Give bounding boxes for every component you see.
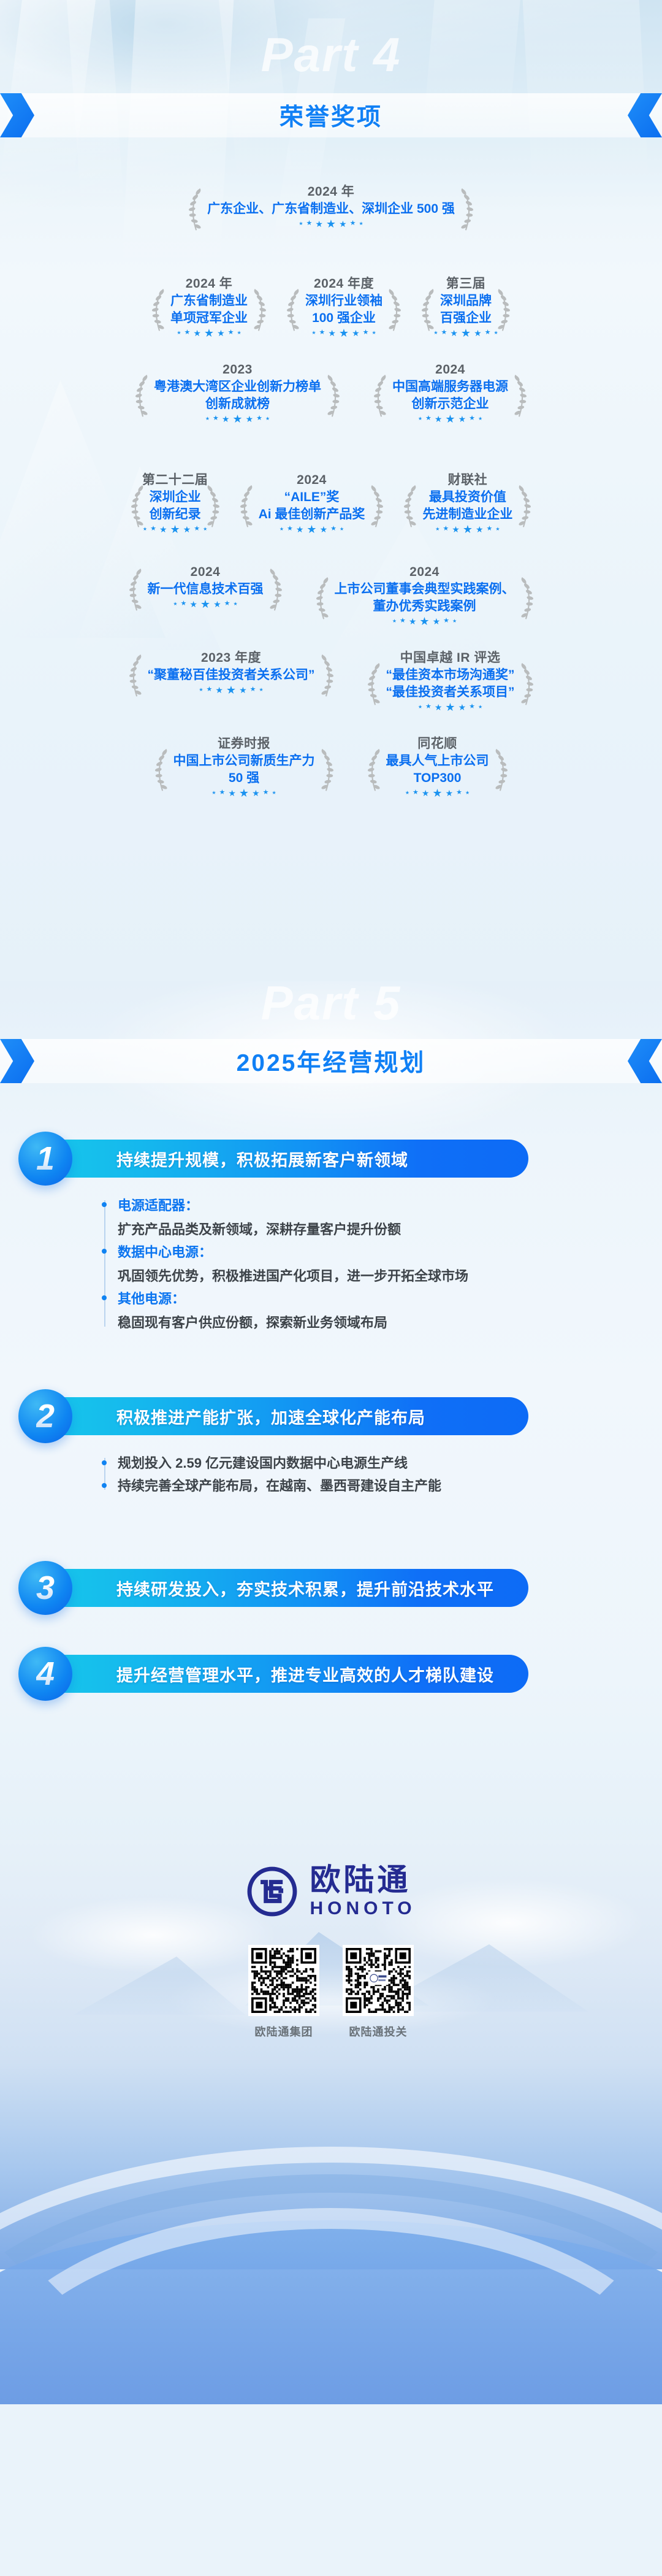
plan-bullet-text: 扩充产品品类及新领域，深耕存量客户提升份额 xyxy=(118,1219,662,1240)
star-icon: ★ xyxy=(435,527,439,532)
star-icon: ★ xyxy=(418,705,422,710)
part4-watermark: Part 4 xyxy=(0,27,662,83)
laurel-wreath-icon xyxy=(385,287,403,332)
star-icon: ★ xyxy=(228,329,234,336)
plan-heading-pill[interactable]: 提升经营管理水平，推进专业高效的人才梯队建设 xyxy=(44,1655,528,1693)
star-icon: ★ xyxy=(265,416,270,421)
award-name-line: 创新纪录 xyxy=(150,506,201,523)
plan-bullet-text: 巩固领先优势，积极推进国产化项目，进一步开拓全球市场 xyxy=(118,1266,662,1286)
star-divider: ★★★★★★★ xyxy=(314,617,536,626)
plan-heading-row: 提升经营管理水平，推进专业高效的人才梯队建设 4 xyxy=(0,1647,662,1701)
star-icon: ★ xyxy=(250,686,256,693)
star-icon: ★ xyxy=(200,599,210,610)
award-name-line: “最佳投资者关系项目” xyxy=(386,684,515,701)
award-item[interactable]: 2024 年 广东省制造业单项冠军企业 ★★★★★★★ xyxy=(147,276,271,337)
star-icon: ★ xyxy=(363,329,369,336)
star-icon: ★ xyxy=(405,791,409,795)
award-body: 广东省制造业单项冠军企业 xyxy=(150,293,268,326)
star-icon: ★ xyxy=(359,221,363,226)
star-icon: ★ xyxy=(256,415,262,422)
star-icon: ★ xyxy=(189,600,197,608)
plan-bullet-text: 规划投入 2.59 亿元建设国内数据中心电源生产线 xyxy=(118,1453,662,1473)
award-body: 最具投资价值先进制造业企业 xyxy=(401,489,533,523)
star-icon: ★ xyxy=(183,525,191,534)
star-icon: ★ xyxy=(339,328,349,339)
laurel-wreath-icon xyxy=(238,483,256,529)
award-item[interactable]: 证券时报 中国上市公司新质生产力50 强 ★★★★★★★ xyxy=(150,736,338,797)
star-icon: ★ xyxy=(469,415,475,422)
plan-item[interactable]: 提升经营管理水平，推进专业高效的人才梯队建设 4 xyxy=(0,1647,662,1701)
footer: 欧陆通 HONOTO 欧陆通集团 欧陆通投关 xyxy=(0,1865,662,2039)
award-item[interactable]: 2024 上市公司董事会典型实践案例、董办优秀实践案例 ★★★★★★★ xyxy=(311,564,538,626)
star-icon: ★ xyxy=(215,686,223,694)
star-icon: ★ xyxy=(226,684,236,696)
part4-title-banner: 荣誉奖项 xyxy=(0,93,662,137)
plan-heading-row: 持续提升规模，积极拓展新客户新领域 1 xyxy=(0,1132,662,1186)
laurel-wreath-icon xyxy=(365,747,384,792)
laurel-wreath-icon xyxy=(150,287,168,332)
award-name-line: 创新示范企业 xyxy=(392,396,508,413)
star-icon: ★ xyxy=(306,524,316,535)
award-name-line: 创新成就榜 xyxy=(154,396,321,413)
star-icon: ★ xyxy=(409,617,417,626)
star-icon: ★ xyxy=(315,220,323,228)
awards-row: 第二十二届 深圳企业创新纪录 ★★★★★★★2024 “AILE”奖Ai 最佳创… xyxy=(0,472,662,534)
star-icon: ★ xyxy=(350,220,356,227)
award-body: 深圳企业创新纪录 xyxy=(129,489,222,523)
star-icon: ★ xyxy=(150,526,156,532)
laurel-wreath-icon xyxy=(318,653,336,698)
award-body: 新一代信息技术百强 xyxy=(127,581,284,598)
star-icon: ★ xyxy=(452,619,457,624)
plan-bullet-list: 规划投入 2.59 亿元建设国内数据中心电源生产线 持续完善全球产能布局，在越南… xyxy=(104,1453,662,1496)
plan-number-badge: 4 xyxy=(18,1647,72,1701)
award-name-line: 最具投资价值 xyxy=(422,489,512,506)
qr-code-label: 欧陆通集团 xyxy=(248,2023,319,2039)
glass-arc xyxy=(0,2208,662,2576)
star-divider: ★★★★★★★ xyxy=(365,703,536,711)
star-icon: ★ xyxy=(425,703,432,710)
award-name-line: TOP300 xyxy=(386,770,489,787)
star-icon: ★ xyxy=(199,688,203,692)
star-icon: ★ xyxy=(206,686,212,693)
star-icon: ★ xyxy=(435,415,443,423)
star-icon: ★ xyxy=(340,527,344,532)
star-icon: ★ xyxy=(330,526,337,532)
plan-heading-text: 提升经营管理水平，推进专业高效的人才梯队建设 xyxy=(116,1662,494,1686)
award-year: 2024 xyxy=(238,472,386,488)
award-body: 中国高端服务器电源创新示范企业 xyxy=(371,378,529,412)
star-icon: ★ xyxy=(456,789,462,796)
plan-bullet-text: 持续完善全球产能布局，在越南、墨西哥建设自主产能 xyxy=(118,1476,662,1496)
award-body: 最具人气上市公司TOP300 xyxy=(365,753,510,786)
award-item[interactable]: 第二十二届 深圳企业创新纪录 ★★★★★★★ xyxy=(126,472,224,534)
star-icon: ★ xyxy=(469,703,475,710)
laurel-wreath-icon xyxy=(133,373,151,418)
award-item[interactable]: 第三届 深圳品牌百强企业 ★★★★★★★ xyxy=(417,276,515,337)
star-divider: ★★★★★★★ xyxy=(371,415,529,423)
star-icon: ★ xyxy=(392,619,397,624)
part5-title-banner: 2025年经营规划 xyxy=(0,1039,662,1083)
plan-bullet-text: 稳固现有客户供应份额，探索新业务领域布局 xyxy=(118,1313,662,1333)
award-name-line: 广东企业、广东省制造业、深圳企业 500 强 xyxy=(207,201,455,218)
award-body: “最佳资本市场沟通奖”“最佳投资者关系项目” xyxy=(365,667,536,700)
star-icon: ★ xyxy=(213,415,219,422)
star-icon: ★ xyxy=(234,602,238,607)
awards-row: 证券时报 中国上市公司新质生产力50 强 ★★★★★★★同花顺 最具人气上市公司… xyxy=(0,736,662,797)
award-name-line: 中国上市公司新质生产力 xyxy=(173,753,315,770)
award-item[interactable]: 中国卓越 IR 评选 “最佳资本市场沟通奖”“最佳投资者关系项目” ★★★★★★… xyxy=(363,650,538,711)
star-icon: ★ xyxy=(319,329,325,336)
star-icon: ★ xyxy=(194,526,200,532)
star-icon: ★ xyxy=(495,527,500,532)
plan-heading-text: 持续研发投入，夯实技术积累，提升前沿技术水平 xyxy=(116,1576,494,1600)
laurel-wreath-icon xyxy=(419,287,438,332)
star-icon: ★ xyxy=(272,791,276,795)
award-name-line: 百强企业 xyxy=(440,310,492,327)
laurel-wreath-icon xyxy=(457,186,476,232)
plan-heading-row: 积极推进产能扩张，加速全球化产能布局 2 xyxy=(0,1389,662,1443)
award-name-line: 新一代信息技术百强 xyxy=(148,581,264,598)
award-name-line: 深圳品牌 xyxy=(440,293,492,310)
laurel-wreath-icon xyxy=(515,483,533,529)
star-icon: ★ xyxy=(435,703,443,711)
star-icon: ★ xyxy=(478,416,482,421)
star-icon: ★ xyxy=(246,415,254,423)
part5-watermark: Part 5 xyxy=(0,975,662,1031)
star-icon: ★ xyxy=(263,789,269,796)
star-icon: ★ xyxy=(441,329,447,336)
plan-heading-text: 持续提升规模，积极拓展新客户新领域 xyxy=(116,1147,408,1171)
star-icon: ★ xyxy=(461,328,471,339)
laurel-wreath-icon xyxy=(284,287,303,332)
star-icon: ★ xyxy=(478,705,482,710)
star-icon: ★ xyxy=(311,331,316,335)
award-name-line: 上市公司董事会典型实践案例、 xyxy=(335,581,515,598)
star-divider: ★★★★★★★ xyxy=(127,686,336,694)
award-item[interactable]: 2024 中国高端服务器电源创新示范企业 ★★★★★★★ xyxy=(369,362,531,423)
star-divider: ★★★★★★★ xyxy=(365,789,510,797)
award-body: 深圳行业领袖100 强企业 xyxy=(284,293,403,326)
qr-code-image[interactable] xyxy=(343,1945,414,2016)
star-icon: ★ xyxy=(252,789,260,797)
star-divider: ★★★★★★★ xyxy=(153,789,336,797)
honoto-emblem-icon xyxy=(246,1865,299,1918)
star-divider: ★★★★★★★ xyxy=(238,525,386,534)
star-icon: ★ xyxy=(446,789,454,797)
award-year: 2023 xyxy=(133,362,342,378)
logo-english-name: HONOTO xyxy=(310,1899,416,1918)
awards-row: 2023 粤港澳大湾区企业创新力榜单创新成就榜 ★★★★★★★2024 中国高端… xyxy=(0,362,662,423)
plan-number: 2 xyxy=(36,1400,55,1433)
star-icon: ★ xyxy=(485,329,491,336)
laurel-wreath-icon xyxy=(371,373,390,418)
plan-heading-text: 积极推进产能扩张，加速全球化产能布局 xyxy=(116,1405,425,1428)
award-item[interactable]: 2024 年度 深圳行业领袖100 强企业 ★★★★★★★ xyxy=(282,276,406,337)
star-icon: ★ xyxy=(306,220,312,227)
star-icon: ★ xyxy=(474,329,482,337)
plan-number: 4 xyxy=(36,1657,55,1690)
award-item[interactable]: 2024 “AILE”奖Ai 最佳创新产品奖 ★★★★★★★ xyxy=(235,472,389,534)
qr-code-cell[interactable]: 欧陆通集团 xyxy=(248,1945,319,2039)
star-icon: ★ xyxy=(193,329,201,337)
award-name-line: 广东省制造业 xyxy=(170,293,248,310)
laurel-wreath-icon xyxy=(129,483,147,529)
plan-bullet-label: 其他电源： xyxy=(118,1289,662,1309)
star-icon: ★ xyxy=(224,600,230,607)
award-item[interactable]: 2024 新一代信息技术百强 ★★★★★★★ xyxy=(124,564,287,608)
award-name-line: “聚董秘百佳投资者关系公司” xyxy=(148,667,315,684)
qr-code-image[interactable] xyxy=(248,1945,319,2016)
plan-heading-pill[interactable]: 持续提升规模，积极拓展新客户新领域 xyxy=(44,1140,528,1178)
star-icon: ★ xyxy=(476,525,484,534)
star-icon: ★ xyxy=(170,524,180,535)
star-icon: ★ xyxy=(445,413,455,424)
award-name-line: 100 强企业 xyxy=(305,310,382,327)
star-divider: ★★★★★★★ xyxy=(401,525,533,534)
plan-item[interactable]: 持续研发投入，夯实技术积累，提升前沿技术水平 3 xyxy=(0,1561,662,1615)
award-body: “聚董秘百佳投资者关系公司” xyxy=(127,667,336,684)
star-icon: ★ xyxy=(205,416,210,421)
star-icon: ★ xyxy=(372,331,376,335)
award-name-line: 深圳企业 xyxy=(150,489,201,506)
award-body: 深圳品牌百强企业 xyxy=(419,293,512,326)
laurel-wreath-icon xyxy=(318,747,336,792)
star-icon: ★ xyxy=(443,618,449,624)
star-icon: ★ xyxy=(287,526,293,532)
star-icon: ★ xyxy=(222,415,230,423)
award-name-line: “AILE”奖 xyxy=(259,489,365,506)
awards-row: 2023 年度 “聚董秘百佳投资者关系公司” ★★★★★★★中国卓越 IR 评选… xyxy=(0,650,662,711)
star-icon: ★ xyxy=(180,600,186,607)
star-icon: ★ xyxy=(184,329,190,336)
award-name-line: Ai 最佳创新产品奖 xyxy=(259,506,365,523)
award-item[interactable]: 2023 年度 “聚董秘百佳投资者关系公司” ★★★★★★★ xyxy=(124,650,338,694)
award-body: 上市公司董事会典型实践案例、董办优秀实践案例 xyxy=(314,581,536,615)
laurel-wreath-icon xyxy=(127,653,145,698)
laurel-wreath-icon xyxy=(314,575,332,621)
star-icon: ★ xyxy=(173,602,177,607)
award-year: 2023 年度 xyxy=(127,650,336,666)
logo-wordmark: 欧陆通 HONOTO xyxy=(310,1865,416,1918)
plan-heading-pill[interactable]: 持续研发投入，夯实技术积累，提升前沿技术水平 xyxy=(44,1569,528,1607)
star-icon: ★ xyxy=(237,331,242,335)
star-icon: ★ xyxy=(280,527,284,532)
award-year: 2024 xyxy=(314,564,536,580)
star-icon: ★ xyxy=(413,789,419,796)
plan-number-badge: 1 xyxy=(18,1132,72,1186)
plan-number-badge: 2 xyxy=(18,1389,72,1443)
star-icon: ★ xyxy=(219,789,225,796)
star-icon: ★ xyxy=(299,221,303,226)
plan-bullet-label: 数据中心电源： xyxy=(118,1242,662,1262)
company-logo: 欧陆通 HONOTO xyxy=(0,1865,662,1918)
star-icon: ★ xyxy=(204,328,214,339)
star-icon: ★ xyxy=(177,331,181,335)
star-icon: ★ xyxy=(450,329,458,337)
award-name-line: 粤港澳大湾区企业创新力榜单 xyxy=(154,378,321,396)
award-name-line: 董办优秀实践案例 xyxy=(335,598,515,615)
plan-number: 3 xyxy=(36,1571,55,1604)
star-icon: ★ xyxy=(458,703,466,711)
laurel-wreath-icon xyxy=(517,575,536,621)
star-icon: ★ xyxy=(339,220,347,228)
award-name-line: 深圳行业领袖 xyxy=(305,293,382,310)
qr-code-cell[interactable]: 欧陆通投关 xyxy=(343,1945,414,2039)
star-icon: ★ xyxy=(352,329,360,337)
star-icon: ★ xyxy=(463,524,473,535)
award-year: 中国卓越 IR 评选 xyxy=(365,650,536,666)
award-name-line: 50 强 xyxy=(173,770,315,787)
star-divider: ★★★★★★★ xyxy=(186,220,476,228)
star-icon: ★ xyxy=(296,525,304,534)
award-year: 同花顺 xyxy=(365,736,510,752)
award-name-line: 先进制造业企业 xyxy=(422,506,512,523)
logo-chinese-name: 欧陆通 xyxy=(310,1865,416,1895)
laurel-wreath-icon xyxy=(492,747,510,792)
award-item[interactable]: 2023 粤港澳大湾区企业创新力榜单创新成就榜 ★★★★★★★ xyxy=(131,362,344,423)
star-icon: ★ xyxy=(465,791,470,795)
star-icon: ★ xyxy=(452,525,460,534)
plan-heading-row: 持续研发投入，夯实技术积累，提升前沿技术水平 3 xyxy=(0,1561,662,1615)
star-icon: ★ xyxy=(228,789,236,797)
star-icon: ★ xyxy=(458,415,466,423)
star-divider: ★★★★★★★ xyxy=(133,415,342,423)
award-name-line: “最佳资本市场沟通奖” xyxy=(386,667,515,684)
award-item[interactable]: 同花顺 最具人气上市公司TOP300 ★★★★★★★ xyxy=(363,736,512,797)
laurel-wreath-icon xyxy=(365,661,384,707)
star-icon: ★ xyxy=(320,525,328,534)
award-year: 2024 xyxy=(127,564,284,580)
part4-title: 荣誉奖项 xyxy=(280,98,382,132)
star-icon: ★ xyxy=(487,526,493,532)
award-name-line: 单项冠军企业 xyxy=(170,310,248,327)
laurel-wreath-icon xyxy=(511,373,529,418)
award-body: “AILE”奖Ai 最佳创新产品奖 xyxy=(238,489,386,523)
laurel-wreath-icon xyxy=(324,373,342,418)
laurel-wreath-icon xyxy=(204,483,222,529)
plan-number: 1 xyxy=(36,1142,55,1175)
plan-bullet-list: 电源适配器： 扩充产品品类及新领域，深耕存量客户提升份额 数据中心电源： 巩固领… xyxy=(104,1195,662,1333)
award-item[interactable]: 2024 年 广东企业、广东省制造业、深圳企业 500 强 ★★★★★★★ xyxy=(184,184,478,228)
award-year: 证券时报 xyxy=(153,736,336,752)
awards-row: 2024 新一代信息技术百强 ★★★★★★★2024 上市公司董事会典型实践案例… xyxy=(0,564,662,626)
laurel-wreath-icon xyxy=(153,747,171,792)
plan-heading-pill[interactable]: 积极推进产能扩张，加速全球化产能布局 xyxy=(44,1397,528,1435)
star-icon: ★ xyxy=(432,788,442,799)
plan-number-badge: 3 xyxy=(18,1561,72,1615)
laurel-wreath-icon xyxy=(401,483,420,529)
star-divider: ★★★★★★★ xyxy=(127,600,284,608)
plan-bullet: 数据中心电源： 巩固领先优势，积极推进国产化项目，进一步开拓全球市场 xyxy=(118,1242,662,1286)
star-icon: ★ xyxy=(400,618,406,624)
laurel-wreath-icon xyxy=(250,287,268,332)
star-icon: ★ xyxy=(239,686,247,694)
star-icon: ★ xyxy=(418,416,422,421)
plan-bullet-label: 电源适配器： xyxy=(118,1195,662,1216)
award-body: 中国上市公司新质生产力50 强 xyxy=(153,753,336,786)
star-icon: ★ xyxy=(211,791,216,795)
plan-item[interactable]: 积极推进产能扩张，加速全球化产能布局 2 规划投入 2.59 亿元建设国内数据中… xyxy=(0,1389,662,1498)
laurel-wreath-icon xyxy=(127,567,145,612)
award-body: 广东企业、广东省制造业、深圳企业 500 强 xyxy=(186,201,476,218)
part5-title: 2025年经营规划 xyxy=(237,1044,426,1078)
award-body: 粤港澳大湾区企业创新力榜单创新成就榜 xyxy=(133,378,342,412)
awards-row: 2024 年 广东企业、广东省制造业、深圳企业 500 强 ★★★★★★★ xyxy=(0,184,662,228)
award-year: 2024 xyxy=(371,362,529,378)
award-name-line: 中国高端服务器电源 xyxy=(392,378,508,396)
awards-row: 2024 年 广东省制造业单项冠军企业 ★★★★★★★2024 年度 深圳行业领… xyxy=(0,276,662,337)
laurel-wreath-icon xyxy=(367,483,386,529)
plan-bullet: 电源适配器： 扩充产品品类及新领域，深耕存量客户提升份额 xyxy=(118,1195,662,1240)
laurel-wreath-icon xyxy=(186,186,205,232)
star-icon: ★ xyxy=(433,617,441,626)
star-icon: ★ xyxy=(232,413,242,424)
plan-bullet: 规划投入 2.59 亿元建设国内数据中心电源生产线 xyxy=(118,1453,662,1473)
award-name-line: 最具人气上市公司 xyxy=(386,753,489,770)
star-icon: ★ xyxy=(445,702,455,713)
laurel-wreath-icon xyxy=(266,567,284,612)
star-icon: ★ xyxy=(422,789,430,797)
star-icon: ★ xyxy=(419,616,429,627)
plan-bullet: 持续完善全球产能布局，在越南、墨西哥建设自主产能 xyxy=(118,1476,662,1496)
qr-code-label: 欧陆通投关 xyxy=(343,2023,414,2039)
laurel-wreath-icon xyxy=(494,287,512,332)
star-icon: ★ xyxy=(217,329,225,337)
award-year: 2024 年 xyxy=(186,184,476,200)
star-icon: ★ xyxy=(259,688,264,692)
star-icon: ★ xyxy=(326,218,336,229)
star-icon: ★ xyxy=(213,600,221,608)
award-year: 财联社 xyxy=(401,472,533,488)
plan-item[interactable]: 持续提升规模，积极拓展新客户新领域 1 电源适配器： 扩充产品品类及新领域，深耕… xyxy=(0,1132,662,1335)
laurel-wreath-icon xyxy=(517,661,536,707)
star-icon: ★ xyxy=(239,788,249,799)
star-icon: ★ xyxy=(159,525,167,534)
plan-bullet: 其他电源： 稳固现有客户供应份额，探索新业务领域布局 xyxy=(118,1289,662,1333)
qr-code-row: 欧陆通集团 欧陆通投关 xyxy=(0,1945,662,2039)
award-item[interactable]: 财联社 最具投资价值先进制造业企业 ★★★★★★★ xyxy=(399,472,536,534)
star-icon: ★ xyxy=(425,415,432,422)
star-icon: ★ xyxy=(443,526,449,532)
star-icon: ★ xyxy=(328,329,336,337)
